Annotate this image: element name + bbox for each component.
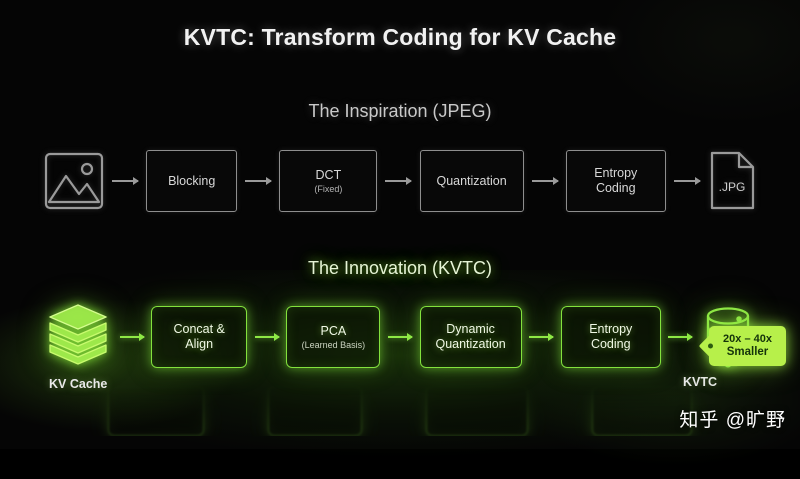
watermark: 知乎 @旷野 [679, 405, 786, 432]
kv-cache-label: KV Cache [49, 377, 107, 391]
arrow-kvtc-4 [529, 336, 553, 338]
reflection-box-1 [108, 386, 204, 436]
arrow-kvtc-5 [668, 336, 692, 338]
arrow-kvtc-2 [255, 336, 279, 338]
arrow-jpeg-1 [112, 180, 138, 182]
kvtc-output-label: KVTC [683, 375, 717, 389]
arrow-kvtc-1 [120, 336, 144, 338]
node-concat-align-line2: Align [185, 337, 213, 352]
reflection-box-3 [426, 386, 528, 436]
compression-badge-line2: Smaller [727, 346, 769, 359]
reflection-box-2 [268, 386, 362, 436]
section-header-jpeg: The Inspiration (JPEG) [0, 101, 800, 122]
node-entropy-coding-jpeg[interactable]: Entropy Coding [566, 150, 666, 212]
file-document-icon: .JPG [708, 151, 756, 211]
layer-stack-icon [44, 301, 112, 373]
node-dct-sublabel: (Fixed) [314, 184, 342, 194]
page-title: KVTC: Transform Coding for KV Cache [0, 24, 800, 51]
node-blocking[interactable]: Blocking [146, 150, 237, 212]
node-pca-sublabel: (Learned Basis) [302, 340, 366, 350]
pipeline-kvtc: Concat & Align PCA (Learned Basis) Dynam… [44, 298, 756, 376]
node-entropy-coding-kvtc-line2: Coding [591, 337, 631, 352]
arrow-jpeg-2 [245, 180, 271, 182]
node-entropy-coding-jpeg-line1: Entropy [594, 166, 637, 181]
node-dynamic-quantization-line2: Quantization [435, 337, 505, 352]
node-pca[interactable]: PCA (Learned Basis) [286, 306, 380, 368]
node-pca-label: PCA [321, 324, 347, 339]
node-dynamic-quantization[interactable]: Dynamic Quantization [420, 306, 522, 368]
arrow-kvtc-3 [388, 336, 412, 338]
node-quantization[interactable]: Quantization [420, 150, 524, 212]
pipeline-jpeg: Blocking DCT (Fixed) Quantization Entrop… [44, 145, 756, 217]
node-concat-align-line1: Concat & [173, 322, 224, 337]
node-dct[interactable]: DCT (Fixed) [279, 150, 377, 212]
node-concat-align[interactable]: Concat & Align [151, 306, 247, 368]
pipeline-reflection [44, 384, 756, 436]
arrow-jpeg-5 [674, 180, 700, 182]
node-blocking-label: Blocking [168, 174, 215, 189]
node-dct-label: DCT [316, 168, 342, 183]
reflection-box-4 [592, 386, 692, 436]
arrow-jpeg-4 [532, 180, 558, 182]
node-quantization-label: Quantization [436, 174, 506, 189]
section-header-kvtc: The Innovation (KVTC) [0, 258, 800, 279]
compression-badge: 20x – 40x Smaller [709, 326, 786, 366]
node-entropy-coding-kvtc[interactable]: Entropy Coding [561, 306, 661, 368]
node-dynamic-quantization-line1: Dynamic [446, 322, 495, 337]
compression-badge-line1: 20x – 40x [723, 333, 772, 345]
file-icon-label: .JPG [719, 180, 746, 194]
node-entropy-coding-kvtc-line1: Entropy [589, 322, 632, 337]
badge-hole-icon [708, 344, 713, 349]
node-entropy-coding-jpeg-line2: Coding [596, 181, 636, 196]
image-photo-icon [44, 152, 104, 210]
arrow-jpeg-3 [385, 180, 411, 182]
